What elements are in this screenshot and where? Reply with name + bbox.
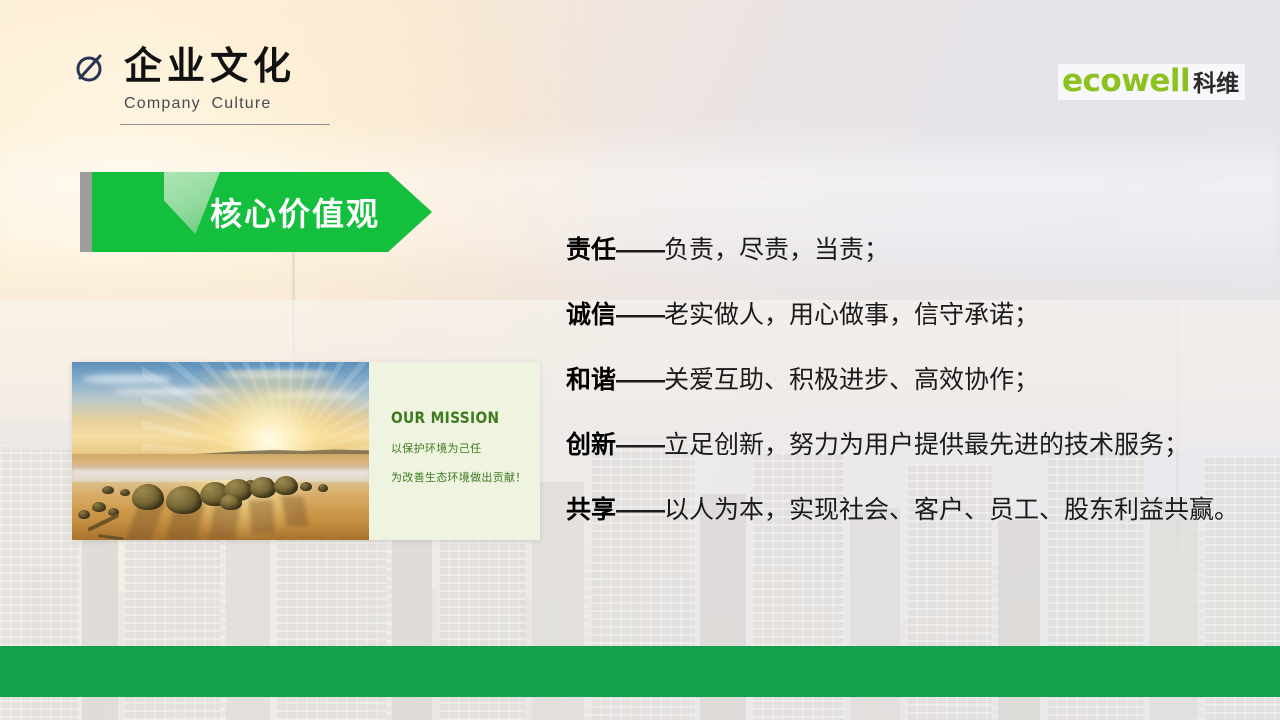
photo-boulder-shadow (249, 500, 275, 534)
value-body: 关爱互助、积极进步、高效协作； (664, 366, 1039, 394)
slide-header: 企业文化 Company Culture (72, 48, 402, 125)
value-body: 老实做人，用心做事，信守承诺； (664, 301, 1039, 329)
value-row-innovation: 创新——立足创新，努力为用户提供最先进的技术服务； (566, 433, 1266, 458)
mission-card: OUR MISSION 以保护环境为己任 为改善生态环境做出贡献！ (72, 362, 540, 540)
page-subtitle: Company Culture (124, 95, 402, 113)
beach-sunrise-photo (72, 362, 369, 540)
photo-boulder (120, 489, 130, 496)
core-values-list: 责任——负责，尽责，当责； 诚信——老实做人，用心做事，信守承诺； 和谐——关爱… (566, 238, 1266, 523)
logo-wordmark: ecowell (1062, 66, 1190, 97)
footer-green-bar (0, 646, 1280, 697)
photo-boulder (220, 494, 242, 510)
value-dash: —— (616, 301, 664, 329)
value-key: 共享 (566, 496, 616, 524)
slashed-circle-icon (72, 48, 110, 86)
mission-line-2: 为改善生态环境做出贡献！ (391, 469, 540, 485)
value-key: 诚信 (566, 301, 616, 329)
value-row-harmony: 和谐——关爱互助、积极进步、高效协作； (566, 368, 1266, 393)
value-key: 和谐 (566, 366, 616, 394)
ecowell-logo: ecowell 科维 (1058, 64, 1245, 100)
mission-text-panel: OUR MISSION 以保护环境为己任 为改善生态环境做出贡献！ (369, 362, 540, 540)
value-row-sharing: 共享——以人为本，实现社会、客户、员工、股东利益共赢。 (566, 498, 1266, 523)
core-values-banner: 核心价值观 (80, 172, 432, 252)
photo-boulder (318, 484, 328, 492)
photo-boulder (300, 482, 312, 491)
photo-rock (92, 502, 106, 512)
value-dash: —— (616, 431, 664, 459)
banner-label: 核心价值观 (210, 172, 380, 252)
page-title: 企业文化 (124, 48, 296, 86)
header-title-row: 企业文化 (72, 48, 402, 86)
mission-line-1: 以保护环境为己任 (391, 440, 540, 456)
value-row-responsibility: 责任——负责，尽责，当责； (566, 238, 1266, 263)
photo-boulder (166, 486, 202, 514)
slide-canvas: 企业文化 Company Culture ecowell 科维 核心价值观 (0, 0, 1280, 720)
value-key: 责任 (566, 236, 616, 264)
photo-boulder (102, 486, 114, 494)
photo-rock (78, 510, 90, 519)
value-row-integrity: 诚信——老实做人，用心做事，信守承诺； (566, 303, 1266, 328)
value-dash: —— (616, 366, 664, 394)
mission-heading: OUR MISSION (391, 408, 519, 427)
value-dash: —— (616, 236, 664, 264)
photo-boulder (132, 484, 164, 510)
value-key: 创新 (566, 431, 616, 459)
photo-boulder (274, 476, 298, 495)
value-body: 以人为本，实现社会、客户、员工、股东利益共赢。 (664, 496, 1239, 524)
title-underline-rule (120, 124, 330, 125)
value-dash: —— (616, 496, 664, 524)
value-body: 立足创新，努力为用户提供最先进的技术服务； (664, 431, 1189, 459)
value-body: 负责，尽责，当责； (664, 236, 889, 264)
banner-gray-edge (80, 172, 92, 252)
photo-boulder (250, 477, 276, 498)
logo-chinese-name: 科维 (1193, 72, 1239, 95)
